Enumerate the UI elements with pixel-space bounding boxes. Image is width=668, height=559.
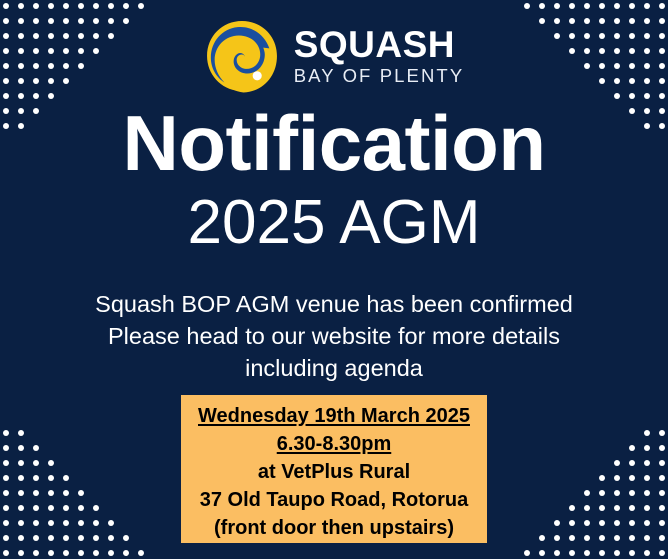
event-time: 6.30-8.30pm — [181, 430, 487, 458]
event-date: Wednesday 19th March 2025 — [181, 402, 487, 430]
logo-wordmark: SQUASH BAY OF PLENTY — [294, 26, 465, 86]
body-line-1: Squash BOP AGM venue has been confirmed — [0, 288, 668, 320]
body-line-2: Please head to our website for more deta… — [0, 320, 668, 352]
body-line-3: including agenda — [0, 352, 668, 384]
squash-bop-koru-logo-icon — [204, 18, 280, 94]
dot-pattern-bottom-left — [0, 409, 190, 559]
poster-canvas: SQUASH BAY OF PLENTY Notification 2025 A… — [0, 0, 668, 559]
event-details-box: Wednesday 19th March 2025 6.30-8.30pm at… — [179, 393, 489, 545]
body-copy: Squash BOP AGM venue has been confirmed … — [0, 288, 668, 384]
event-address: 37 Old Taupo Road, Rotorua — [181, 486, 487, 514]
page-subtitle: 2025 AGM — [0, 192, 668, 254]
logo-word-bay-of-plenty: BAY OF PLENTY — [294, 67, 465, 86]
logo-word-squash: SQUASH — [294, 26, 465, 63]
event-venue: at VetPlus Rural — [181, 458, 487, 486]
logo-lockup: SQUASH BAY OF PLENTY — [0, 18, 668, 94]
event-access-note: (front door then upstairs) — [181, 514, 487, 542]
dot-pattern-bottom-right — [478, 409, 668, 559]
page-title: Notification — [0, 104, 668, 182]
